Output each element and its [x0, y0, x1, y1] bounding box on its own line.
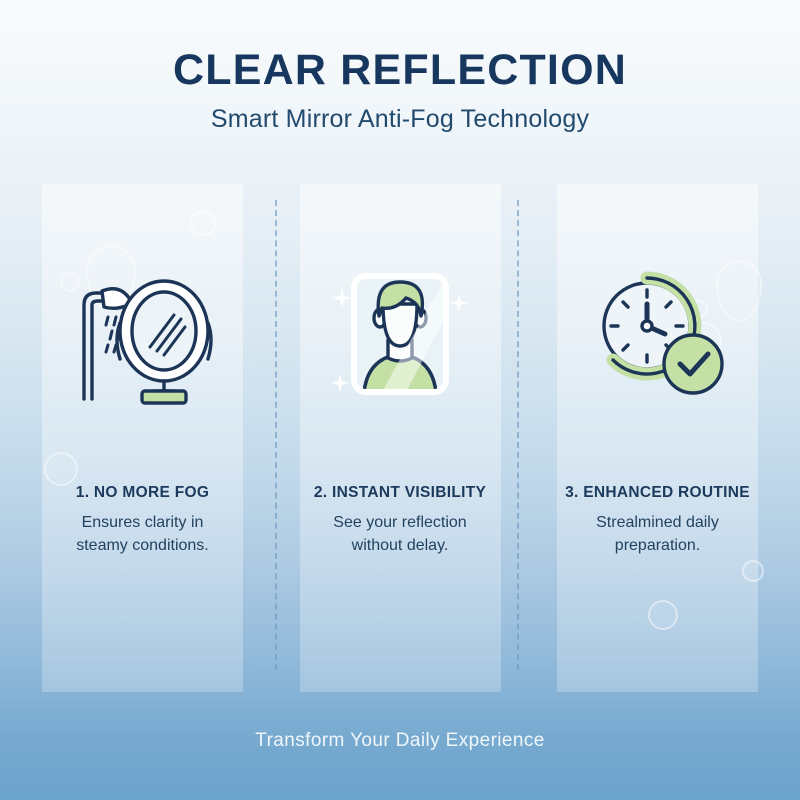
header: CLEAR REFLECTION Smart Mirror Anti-Fog T… [0, 0, 800, 134]
feature-heading: 3. ENHANCED ROUTINE [565, 484, 750, 502]
person-reflection-mirror-icon [300, 184, 501, 484]
feature-description: Ensures clarity in steamy conditions. [57, 512, 229, 557]
feature-columns: 1. NO MORE FOG Ensures clarity in steamy… [42, 184, 758, 692]
footer-tagline: Transform Your Daily Experience [0, 730, 800, 752]
feature-description: See your reflection without delay. [314, 512, 486, 557]
infographic-poster: CLEAR REFLECTION Smart Mirror Anti-Fog T… [0, 0, 800, 800]
feature-description: Strealmined daily preparation. [572, 512, 744, 557]
shower-mirror-icon [42, 184, 243, 484]
page-title: CLEAR REFLECTION [0, 48, 800, 93]
feature-panel-no-more-fog: 1. NO MORE FOG Ensures clarity in steamy… [42, 184, 243, 692]
page-subtitle: Smart Mirror Anti-Fog Technology [0, 105, 800, 134]
feature-heading: 1. NO MORE FOG [76, 484, 209, 502]
clock-check-icon [557, 184, 758, 484]
feature-panel-instant-visibility: 2. INSTANT VISIBILITY See your reflectio… [300, 184, 501, 692]
feature-panel-enhanced-routine: 3. ENHANCED ROUTINE Strealmined daily pr… [557, 184, 758, 692]
feature-heading: 2. INSTANT VISIBILITY [314, 484, 486, 502]
